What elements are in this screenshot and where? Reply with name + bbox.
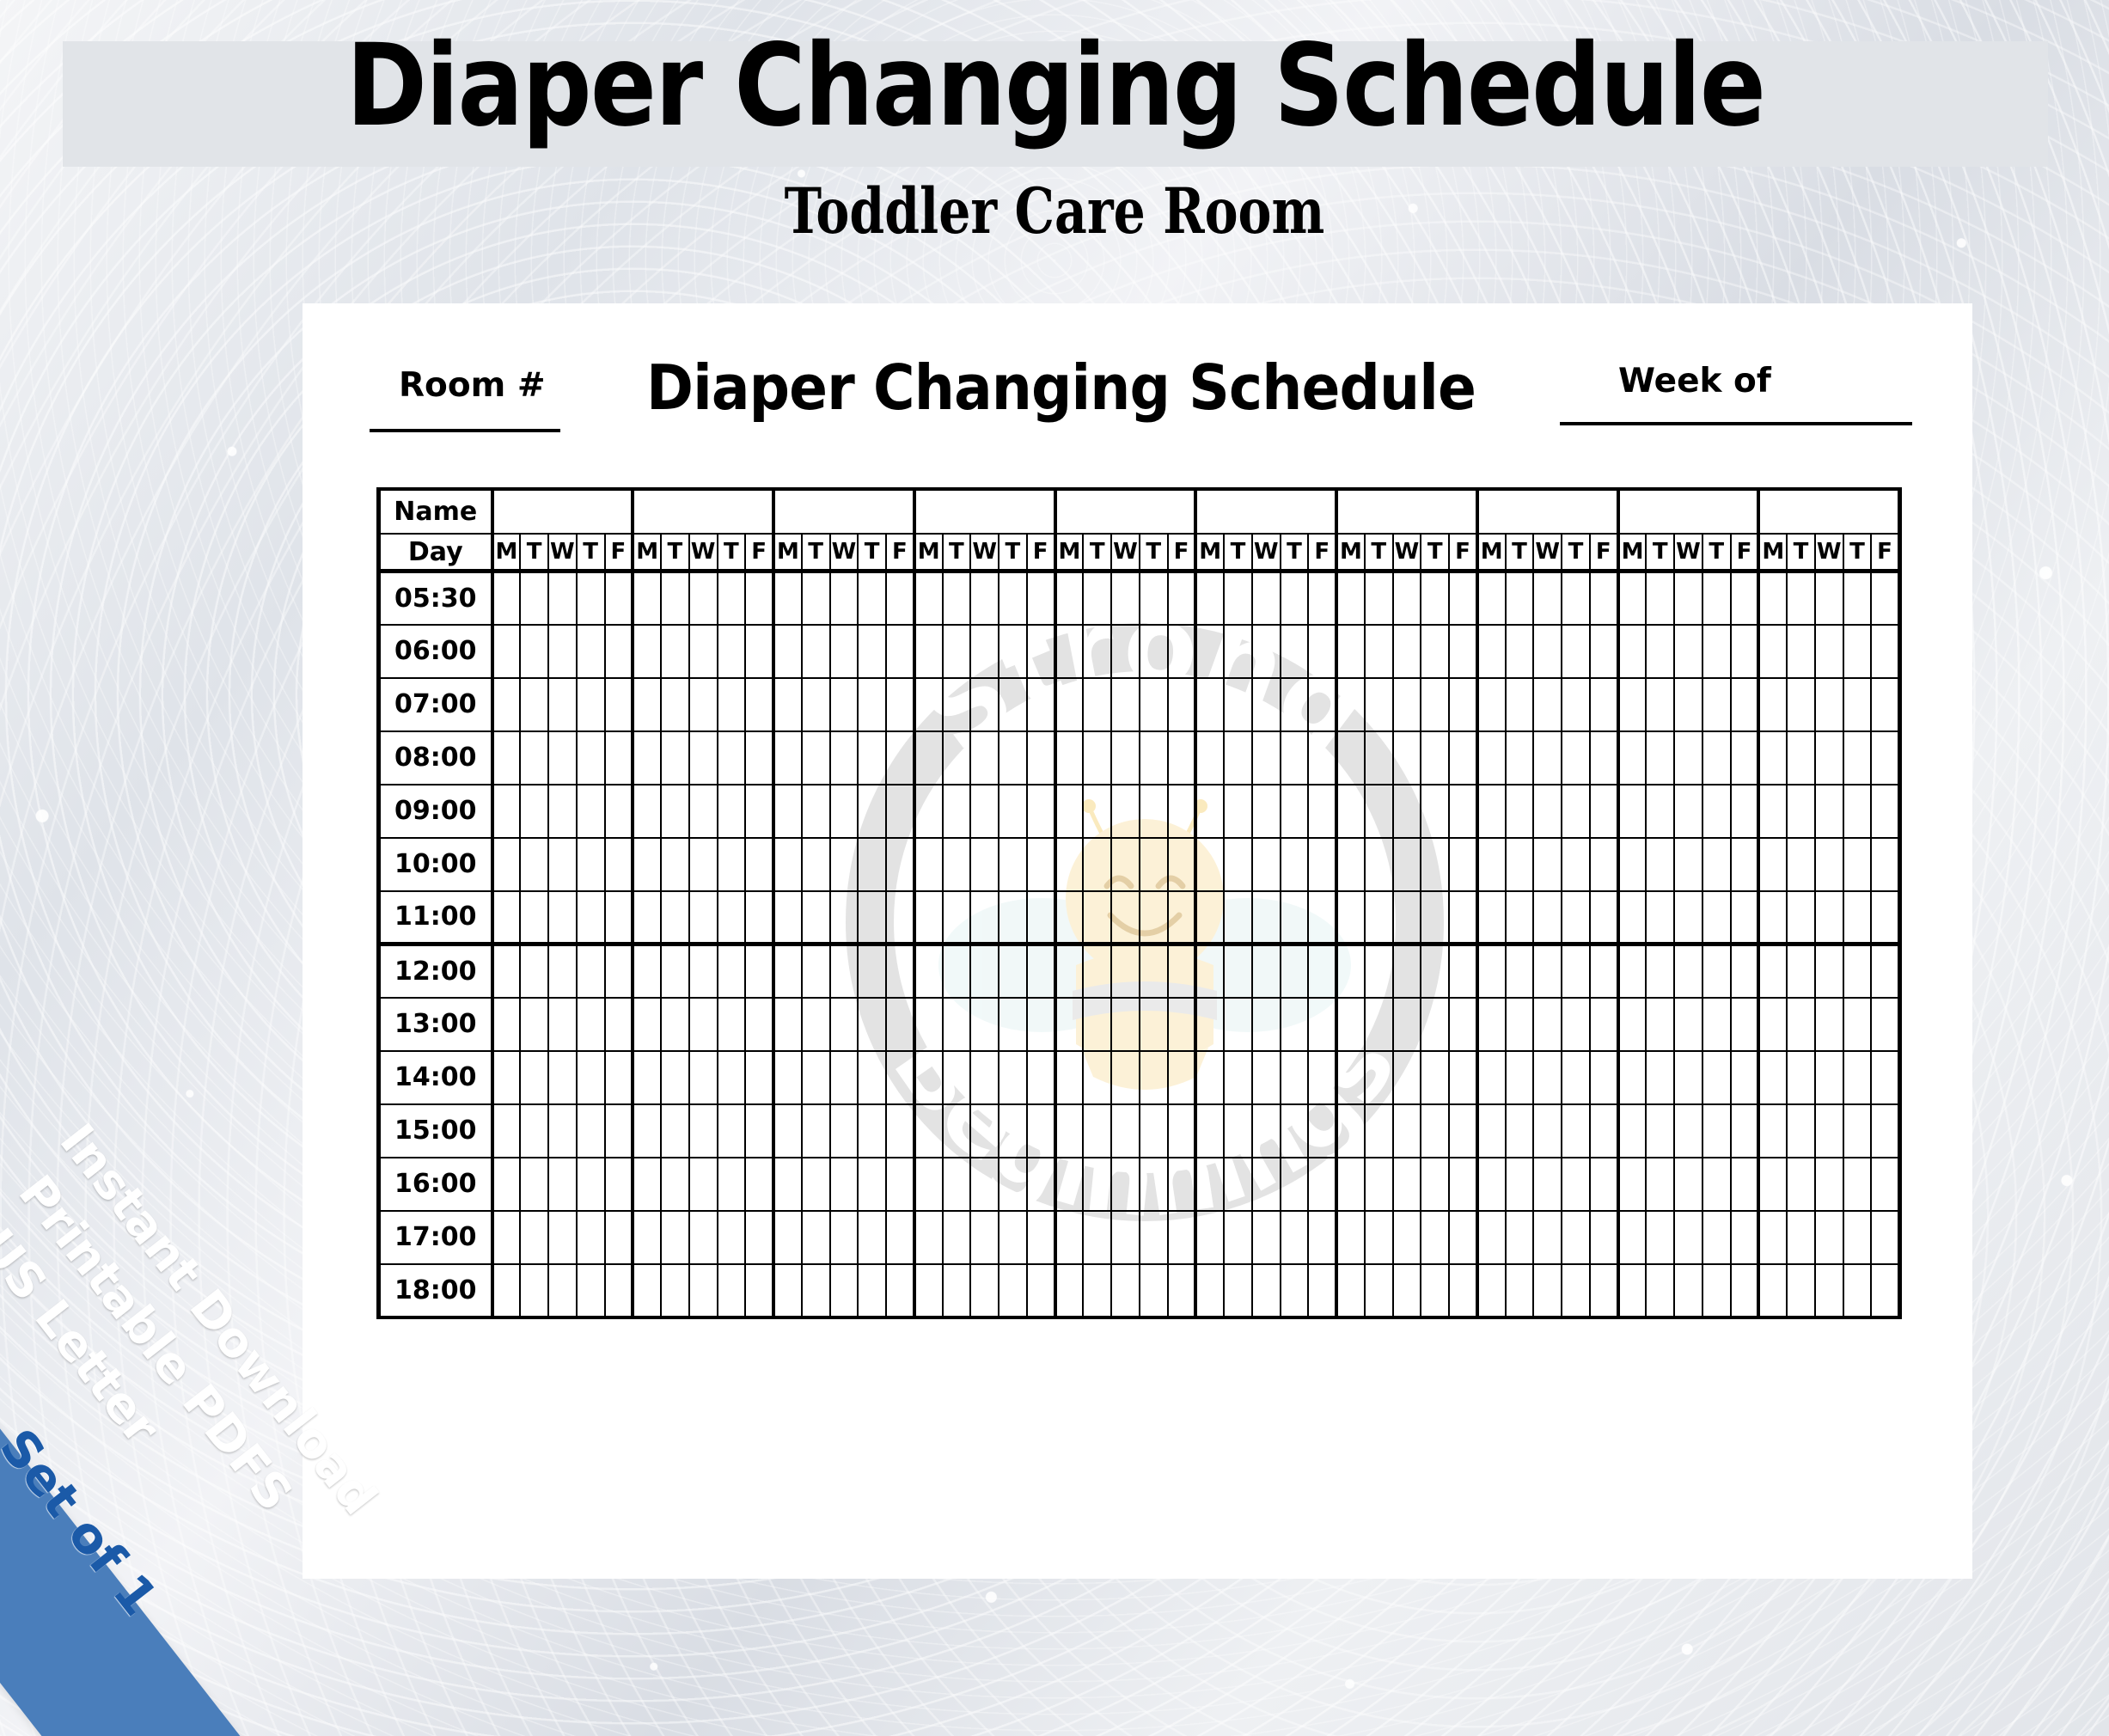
schedule-cell[interactable]	[999, 1211, 1027, 1264]
schedule-cell[interactable]	[914, 1051, 943, 1104]
schedule-cell[interactable]	[1787, 1051, 1815, 1104]
schedule-cell[interactable]	[1815, 625, 1843, 678]
schedule-cell[interactable]	[745, 998, 773, 1051]
schedule-cell[interactable]	[492, 731, 521, 785]
schedule-cell[interactable]	[1477, 1264, 1506, 1317]
schedule-cell[interactable]	[1533, 572, 1562, 625]
schedule-cell[interactable]	[970, 625, 999, 678]
schedule-cell[interactable]	[548, 785, 577, 838]
schedule-cell[interactable]	[1674, 944, 1702, 998]
schedule-cell[interactable]	[914, 625, 943, 678]
schedule-cell[interactable]	[886, 1211, 914, 1264]
schedule-cell[interactable]	[1506, 944, 1534, 998]
schedule-cell[interactable]	[492, 891, 521, 944]
schedule-cell[interactable]	[914, 998, 943, 1051]
schedule-cell[interactable]	[689, 625, 718, 678]
schedule-cell[interactable]	[1533, 731, 1562, 785]
schedule-cell[interactable]	[858, 1264, 886, 1317]
schedule-cell[interactable]	[1787, 572, 1815, 625]
schedule-cell[interactable]	[661, 678, 689, 731]
schedule-cell[interactable]	[1506, 731, 1534, 785]
schedule-cell[interactable]	[999, 891, 1027, 944]
schedule-cell[interactable]	[1533, 785, 1562, 838]
schedule-cell[interactable]	[1393, 1264, 1421, 1317]
schedule-cell[interactable]	[1252, 572, 1281, 625]
schedule-cell[interactable]	[1252, 944, 1281, 998]
schedule-cell[interactable]	[886, 1264, 914, 1317]
schedule-cell[interactable]	[1815, 998, 1843, 1051]
schedule-cell[interactable]	[745, 731, 773, 785]
schedule-cell[interactable]	[914, 891, 943, 944]
schedule-cell[interactable]	[492, 838, 521, 891]
schedule-cell[interactable]	[1365, 998, 1393, 1051]
schedule-cell[interactable]	[718, 1158, 746, 1211]
schedule-cell[interactable]	[1365, 785, 1393, 838]
schedule-cell[interactable]	[548, 572, 577, 625]
schedule-cell[interactable]	[1590, 998, 1618, 1051]
schedule-cell[interactable]	[943, 572, 971, 625]
schedule-cell[interactable]	[914, 785, 943, 838]
schedule-cell[interactable]	[605, 731, 633, 785]
schedule-cell[interactable]	[1393, 1051, 1421, 1104]
schedule-cell[interactable]	[661, 1158, 689, 1211]
schedule-cell[interactable]	[1562, 838, 1590, 891]
schedule-cell[interactable]	[802, 1158, 830, 1211]
schedule-cell[interactable]	[943, 891, 971, 944]
schedule-cell[interactable]	[1027, 1104, 1055, 1158]
schedule-cell[interactable]	[1843, 1104, 1872, 1158]
schedule-cell[interactable]	[1477, 1211, 1506, 1264]
schedule-cell[interactable]	[1055, 625, 1084, 678]
schedule-cell[interactable]	[1871, 1264, 1899, 1317]
schedule-cell[interactable]	[970, 838, 999, 891]
schedule-cell[interactable]	[1168, 998, 1196, 1051]
schedule-cell[interactable]	[689, 998, 718, 1051]
schedule-cell[interactable]	[1477, 838, 1506, 891]
schedule-cell[interactable]	[1252, 1158, 1281, 1211]
schedule-cell[interactable]	[999, 1264, 1027, 1317]
schedule-cell[interactable]	[830, 1104, 859, 1158]
schedule-cell[interactable]	[1168, 891, 1196, 944]
schedule-cell[interactable]	[745, 1264, 773, 1317]
schedule-cell[interactable]	[1140, 625, 1168, 678]
schedule-cell[interactable]	[1421, 731, 1449, 785]
schedule-cell[interactable]	[970, 998, 999, 1051]
schedule-cell[interactable]	[1168, 944, 1196, 998]
schedule-cell[interactable]	[1871, 572, 1899, 625]
schedule-cell[interactable]	[1308, 944, 1336, 998]
schedule-cell[interactable]	[943, 1104, 971, 1158]
schedule-cell[interactable]	[1702, 1104, 1731, 1158]
schedule-cell[interactable]	[1815, 1104, 1843, 1158]
schedule-cell[interactable]	[886, 785, 914, 838]
schedule-cell[interactable]	[605, 1104, 633, 1158]
schedule-cell[interactable]	[1506, 891, 1534, 944]
schedule-cell[interactable]	[1224, 1104, 1252, 1158]
schedule-cell[interactable]	[1618, 1051, 1647, 1104]
schedule-cell[interactable]	[1281, 678, 1309, 731]
schedule-cell[interactable]	[548, 891, 577, 944]
schedule-cell[interactable]	[1758, 1104, 1787, 1158]
schedule-cell[interactable]	[1421, 1051, 1449, 1104]
schedule-cell[interactable]	[999, 785, 1027, 838]
schedule-cell[interactable]	[1702, 678, 1731, 731]
schedule-cell[interactable]	[633, 1158, 661, 1211]
schedule-cell[interactable]	[633, 944, 661, 998]
schedule-cell[interactable]	[1758, 998, 1787, 1051]
schedule-cell[interactable]	[1731, 625, 1759, 678]
schedule-cell[interactable]	[1702, 1264, 1731, 1317]
schedule-cell[interactable]	[1731, 998, 1759, 1051]
schedule-cell[interactable]	[970, 1264, 999, 1317]
schedule-cell[interactable]	[1871, 1211, 1899, 1264]
schedule-cell[interactable]	[1646, 1051, 1674, 1104]
schedule-cell[interactable]	[1336, 785, 1365, 838]
schedule-cell[interactable]	[577, 1211, 605, 1264]
schedule-cell[interactable]	[1646, 678, 1674, 731]
schedule-cell[interactable]	[689, 678, 718, 731]
schedule-cell[interactable]	[773, 1104, 802, 1158]
name-input-cell[interactable]	[773, 489, 914, 534]
schedule-cell[interactable]	[802, 998, 830, 1051]
schedule-cell[interactable]	[1449, 838, 1477, 891]
schedule-cell[interactable]	[1787, 838, 1815, 891]
schedule-cell[interactable]	[1083, 1158, 1111, 1211]
schedule-cell[interactable]	[1787, 678, 1815, 731]
schedule-cell[interactable]	[1731, 1158, 1759, 1211]
schedule-cell[interactable]	[1421, 1211, 1449, 1264]
schedule-cell[interactable]	[1674, 625, 1702, 678]
schedule-cell[interactable]	[1533, 678, 1562, 731]
schedule-cell[interactable]	[1506, 625, 1534, 678]
schedule-cell[interactable]	[1449, 1211, 1477, 1264]
schedule-cell[interactable]	[1421, 1104, 1449, 1158]
schedule-cell[interactable]	[1815, 785, 1843, 838]
schedule-cell[interactable]	[1308, 891, 1336, 944]
schedule-cell[interactable]	[1674, 1211, 1702, 1264]
schedule-cell[interactable]	[520, 1104, 548, 1158]
schedule-cell[interactable]	[1421, 678, 1449, 731]
schedule-cell[interactable]	[1308, 785, 1336, 838]
schedule-cell[interactable]	[1421, 1264, 1449, 1317]
schedule-cell[interactable]	[577, 838, 605, 891]
schedule-cell[interactable]	[999, 625, 1027, 678]
schedule-cell[interactable]	[1195, 944, 1224, 998]
schedule-cell[interactable]	[1083, 998, 1111, 1051]
schedule-cell[interactable]	[830, 731, 859, 785]
schedule-cell[interactable]	[1365, 1211, 1393, 1264]
schedule-cell[interactable]	[718, 1104, 746, 1158]
schedule-cell[interactable]	[1787, 944, 1815, 998]
schedule-cell[interactable]	[1111, 731, 1140, 785]
schedule-cell[interactable]	[661, 838, 689, 891]
schedule-cell[interactable]	[633, 1264, 661, 1317]
schedule-cell[interactable]	[1393, 1158, 1421, 1211]
schedule-cell[interactable]	[1477, 944, 1506, 998]
schedule-cell[interactable]	[999, 838, 1027, 891]
schedule-cell[interactable]	[1140, 838, 1168, 891]
schedule-cell[interactable]	[1365, 838, 1393, 891]
schedule-cell[interactable]	[1140, 572, 1168, 625]
schedule-cell[interactable]	[548, 998, 577, 1051]
schedule-cell[interactable]	[1618, 1264, 1647, 1317]
schedule-cell[interactable]	[1449, 998, 1477, 1051]
schedule-cell[interactable]	[1336, 891, 1365, 944]
schedule-cell[interactable]	[773, 625, 802, 678]
schedule-cell[interactable]	[1590, 678, 1618, 731]
schedule-cell[interactable]	[886, 998, 914, 1051]
schedule-cell[interactable]	[605, 1158, 633, 1211]
schedule-cell[interactable]	[886, 891, 914, 944]
schedule-cell[interactable]	[1308, 1051, 1336, 1104]
schedule-cell[interactable]	[661, 1104, 689, 1158]
schedule-cell[interactable]	[1027, 891, 1055, 944]
schedule-cell[interactable]	[745, 1211, 773, 1264]
schedule-cell[interactable]	[1027, 625, 1055, 678]
schedule-cell[interactable]	[1758, 572, 1787, 625]
schedule-cell[interactable]	[1308, 678, 1336, 731]
schedule-cell[interactable]	[1815, 1051, 1843, 1104]
schedule-cell[interactable]	[858, 1104, 886, 1158]
schedule-cell[interactable]	[1111, 1211, 1140, 1264]
schedule-cell[interactable]	[1731, 731, 1759, 785]
schedule-cell[interactable]	[1336, 731, 1365, 785]
schedule-cell[interactable]	[1393, 944, 1421, 998]
schedule-cell[interactable]	[1843, 838, 1872, 891]
schedule-cell[interactable]	[1871, 891, 1899, 944]
schedule-cell[interactable]	[1252, 1211, 1281, 1264]
schedule-cell[interactable]	[548, 1264, 577, 1317]
schedule-cell[interactable]	[1843, 1158, 1872, 1211]
schedule-cell[interactable]	[1252, 731, 1281, 785]
schedule-cell[interactable]	[1731, 1264, 1759, 1317]
schedule-cell[interactable]	[1336, 572, 1365, 625]
schedule-cell[interactable]	[689, 731, 718, 785]
schedule-cell[interactable]	[970, 785, 999, 838]
schedule-cell[interactable]	[745, 1051, 773, 1104]
schedule-cell[interactable]	[943, 1158, 971, 1211]
schedule-cell[interactable]	[1843, 944, 1872, 998]
schedule-cell[interactable]	[1731, 838, 1759, 891]
schedule-cell[interactable]	[1365, 625, 1393, 678]
schedule-cell[interactable]	[1533, 1051, 1562, 1104]
schedule-cell[interactable]	[1195, 678, 1224, 731]
schedule-cell[interactable]	[1393, 838, 1421, 891]
schedule-cell[interactable]	[1646, 1158, 1674, 1211]
schedule-cell[interactable]	[577, 891, 605, 944]
schedule-cell[interactable]	[1252, 891, 1281, 944]
schedule-cell[interactable]	[943, 1051, 971, 1104]
schedule-cell[interactable]	[1674, 1158, 1702, 1211]
schedule-cell[interactable]	[689, 572, 718, 625]
schedule-cell[interactable]	[520, 944, 548, 998]
schedule-cell[interactable]	[492, 785, 521, 838]
schedule-cell[interactable]	[633, 785, 661, 838]
schedule-cell[interactable]	[1195, 785, 1224, 838]
schedule-cell[interactable]	[577, 678, 605, 731]
schedule-cell[interactable]	[1871, 785, 1899, 838]
schedule-cell[interactable]	[1252, 838, 1281, 891]
schedule-cell[interactable]	[1195, 731, 1224, 785]
schedule-cell[interactable]	[1618, 1104, 1647, 1158]
schedule-cell[interactable]	[1421, 838, 1449, 891]
schedule-cell[interactable]	[1646, 891, 1674, 944]
schedule-cell[interactable]	[1168, 1104, 1196, 1158]
schedule-cell[interactable]	[492, 1264, 521, 1317]
schedule-cell[interactable]	[520, 785, 548, 838]
schedule-cell[interactable]	[1731, 1104, 1759, 1158]
schedule-cell[interactable]	[1140, 1264, 1168, 1317]
schedule-cell[interactable]	[914, 572, 943, 625]
schedule-cell[interactable]	[802, 1264, 830, 1317]
schedule-cell[interactable]	[661, 572, 689, 625]
schedule-cell[interactable]	[858, 1158, 886, 1211]
schedule-cell[interactable]	[492, 1211, 521, 1264]
schedule-cell[interactable]	[773, 1158, 802, 1211]
schedule-cell[interactable]	[689, 1211, 718, 1264]
schedule-cell[interactable]	[1224, 625, 1252, 678]
schedule-cell[interactable]	[1871, 731, 1899, 785]
schedule-cell[interactable]	[1674, 838, 1702, 891]
schedule-cell[interactable]	[1449, 572, 1477, 625]
schedule-cell[interactable]	[1281, 838, 1309, 891]
schedule-cell[interactable]	[520, 838, 548, 891]
schedule-cell[interactable]	[1055, 1051, 1084, 1104]
schedule-cell[interactable]	[1674, 1104, 1702, 1158]
schedule-cell[interactable]	[1618, 625, 1647, 678]
name-input-cell[interactable]	[492, 489, 633, 534]
schedule-cell[interactable]	[1506, 1158, 1534, 1211]
schedule-cell[interactable]	[886, 1158, 914, 1211]
schedule-cell[interactable]	[1618, 838, 1647, 891]
schedule-cell[interactable]	[1308, 1211, 1336, 1264]
schedule-cell[interactable]	[914, 1211, 943, 1264]
schedule-cell[interactable]	[1111, 678, 1140, 731]
schedule-cell[interactable]	[1224, 1211, 1252, 1264]
schedule-cell[interactable]	[1252, 1264, 1281, 1317]
schedule-cell[interactable]	[548, 838, 577, 891]
schedule-cell[interactable]	[1618, 1211, 1647, 1264]
schedule-cell[interactable]	[1787, 1104, 1815, 1158]
schedule-cell[interactable]	[1421, 785, 1449, 838]
schedule-cell[interactable]	[1702, 1051, 1731, 1104]
schedule-cell[interactable]	[773, 572, 802, 625]
schedule-cell[interactable]	[661, 785, 689, 838]
schedule-cell[interactable]	[1195, 1158, 1224, 1211]
schedule-cell[interactable]	[548, 678, 577, 731]
schedule-cell[interactable]	[1506, 678, 1534, 731]
schedule-cell[interactable]	[1702, 891, 1731, 944]
schedule-cell[interactable]	[773, 1264, 802, 1317]
schedule-cell[interactable]	[1393, 572, 1421, 625]
week-of-write-in-line[interactable]	[1560, 422, 1912, 425]
schedule-cell[interactable]	[1083, 785, 1111, 838]
schedule-cell[interactable]	[1168, 572, 1196, 625]
schedule-cell[interactable]	[1618, 785, 1647, 838]
schedule-cell[interactable]	[1646, 1104, 1674, 1158]
schedule-cell[interactable]	[802, 1051, 830, 1104]
schedule-cell[interactable]	[999, 572, 1027, 625]
schedule-cell[interactable]	[1111, 785, 1140, 838]
schedule-cell[interactable]	[1224, 1264, 1252, 1317]
schedule-cell[interactable]	[661, 1264, 689, 1317]
schedule-cell[interactable]	[1055, 785, 1084, 838]
schedule-cell[interactable]	[1843, 891, 1872, 944]
schedule-cell[interactable]	[773, 1051, 802, 1104]
schedule-cell[interactable]	[1674, 998, 1702, 1051]
schedule-cell[interactable]	[605, 1211, 633, 1264]
schedule-cell[interactable]	[1365, 678, 1393, 731]
schedule-cell[interactable]	[1336, 1264, 1365, 1317]
schedule-cell[interactable]	[970, 1158, 999, 1211]
schedule-cell[interactable]	[1477, 678, 1506, 731]
schedule-cell[interactable]	[1140, 785, 1168, 838]
schedule-cell[interactable]	[830, 998, 859, 1051]
schedule-cell[interactable]	[830, 572, 859, 625]
schedule-cell[interactable]	[1421, 625, 1449, 678]
schedule-cell[interactable]	[689, 1264, 718, 1317]
schedule-cell[interactable]	[1674, 785, 1702, 838]
schedule-cell[interactable]	[1815, 944, 1843, 998]
schedule-cell[interactable]	[1365, 1264, 1393, 1317]
schedule-cell[interactable]	[548, 1051, 577, 1104]
schedule-cell[interactable]	[1195, 1051, 1224, 1104]
schedule-cell[interactable]	[605, 625, 633, 678]
schedule-cell[interactable]	[1590, 731, 1618, 785]
schedule-cell[interactable]	[970, 944, 999, 998]
schedule-cell[interactable]	[1111, 625, 1140, 678]
schedule-cell[interactable]	[1758, 1211, 1787, 1264]
schedule-cell[interactable]	[520, 891, 548, 944]
schedule-cell[interactable]	[1168, 1051, 1196, 1104]
schedule-cell[interactable]	[520, 1211, 548, 1264]
schedule-cell[interactable]	[1702, 572, 1731, 625]
schedule-cell[interactable]	[1477, 891, 1506, 944]
schedule-cell[interactable]	[1083, 891, 1111, 944]
schedule-cell[interactable]	[520, 1051, 548, 1104]
schedule-cell[interactable]	[773, 838, 802, 891]
schedule-cell[interactable]	[1646, 731, 1674, 785]
schedule-cell[interactable]	[1871, 944, 1899, 998]
schedule-cell[interactable]	[520, 1158, 548, 1211]
schedule-cell[interactable]	[718, 838, 746, 891]
schedule-cell[interactable]	[689, 1104, 718, 1158]
schedule-cell[interactable]	[1308, 1264, 1336, 1317]
schedule-cell[interactable]	[1533, 998, 1562, 1051]
schedule-cell[interactable]	[1281, 625, 1309, 678]
schedule-cell[interactable]	[858, 838, 886, 891]
schedule-cell[interactable]	[1787, 731, 1815, 785]
schedule-cell[interactable]	[1365, 1104, 1393, 1158]
schedule-cell[interactable]	[1562, 1051, 1590, 1104]
schedule-cell[interactable]	[1336, 625, 1365, 678]
schedule-cell[interactable]	[1731, 572, 1759, 625]
schedule-cell[interactable]	[1083, 1104, 1111, 1158]
schedule-cell[interactable]	[520, 998, 548, 1051]
schedule-cell[interactable]	[830, 891, 859, 944]
schedule-cell[interactable]	[1365, 1051, 1393, 1104]
schedule-cell[interactable]	[520, 678, 548, 731]
schedule-cell[interactable]	[1224, 678, 1252, 731]
schedule-cell[interactable]	[1843, 1211, 1872, 1264]
schedule-cell[interactable]	[830, 1211, 859, 1264]
schedule-cell[interactable]	[1562, 785, 1590, 838]
schedule-cell[interactable]	[1224, 998, 1252, 1051]
schedule-cell[interactable]	[577, 1158, 605, 1211]
schedule-cell[interactable]	[718, 891, 746, 944]
schedule-cell[interactable]	[633, 678, 661, 731]
schedule-cell[interactable]	[1281, 1104, 1309, 1158]
